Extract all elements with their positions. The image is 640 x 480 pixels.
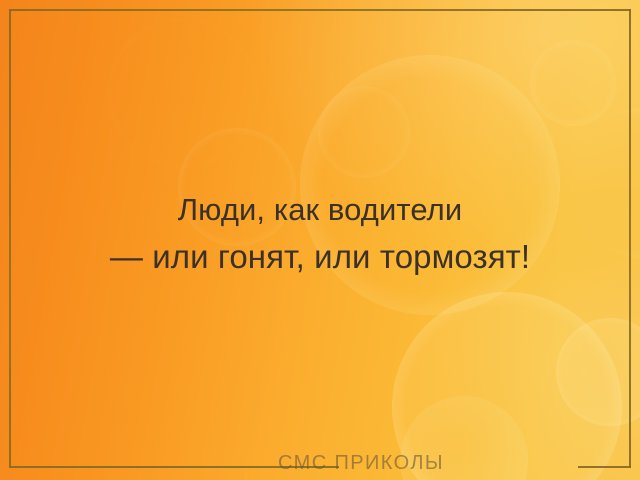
- quote-line-1: Люди, как водители: [0, 186, 640, 233]
- bokeh-circle: [108, 18, 258, 168]
- bokeh-circle: [530, 40, 616, 126]
- quote-text: Люди, как водители — или гонят, или торм…: [0, 186, 640, 280]
- bokeh-circle: [318, 86, 410, 178]
- quote-line-2: — или гонят, или тормозят!: [0, 233, 640, 280]
- quote-card: Люди, как водители — или гонят, или торм…: [0, 0, 640, 480]
- bokeh-circle: [556, 318, 640, 426]
- watermark-label: СМС ПРИКОЛЫ: [0, 452, 640, 475]
- frame-border-top: [9, 9, 631, 11]
- bokeh-circle: [0, 250, 250, 480]
